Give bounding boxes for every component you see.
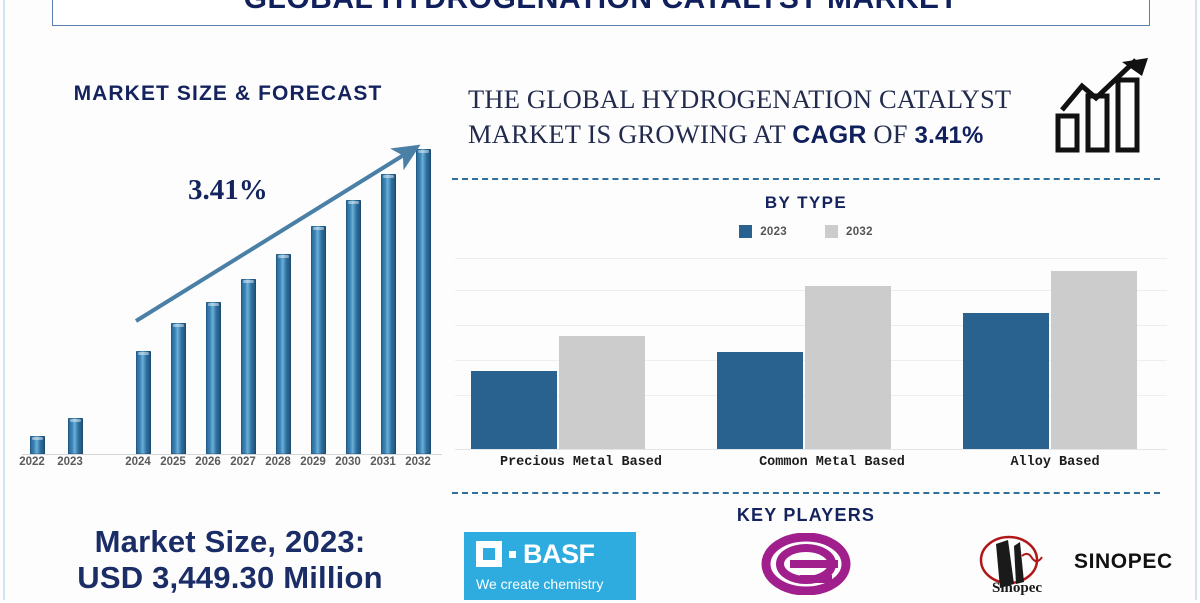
legend-label-2023: 2023 bbox=[760, 226, 787, 238]
basf-mark: BASF bbox=[476, 541, 595, 567]
bar-precious-metal-based-2032 bbox=[559, 336, 645, 449]
basf-tagline: We create chemistry bbox=[476, 576, 603, 592]
logo-evonik bbox=[760, 533, 856, 595]
page-title-box: GLOBAL HYDROGENATION CATALYST MARKET bbox=[52, 0, 1150, 26]
bar-common-metal-based-2032 bbox=[805, 286, 891, 449]
market-size-forecast-heading: MARKET SIZE & FORECAST bbox=[18, 82, 438, 106]
legend-swatch-2023 bbox=[739, 225, 752, 238]
divider-bottom bbox=[452, 492, 1160, 494]
x-label-2030: 2030 bbox=[328, 456, 368, 468]
basf-wordmark: BASF bbox=[523, 541, 595, 567]
cagr-statement: THE GLOBAL HYDROGENATION CATALYST MARKET… bbox=[468, 82, 1028, 152]
sinopec-sub-wordmark: Sinopec bbox=[992, 580, 1042, 596]
market-size-line-2: USD 3,449.30 Million bbox=[10, 560, 450, 596]
x-label-2031: 2031 bbox=[363, 456, 403, 468]
sinopec-wordmark: SINOPEC bbox=[1074, 550, 1173, 574]
x-label-2022: 2022 bbox=[12, 456, 52, 468]
bar-chart-growth-icon bbox=[1052, 58, 1156, 154]
x-label-2026: 2026 bbox=[188, 456, 228, 468]
legend-item-2032: 2032 bbox=[825, 225, 873, 238]
x-label-2023: 2023 bbox=[50, 456, 90, 468]
divider-top bbox=[452, 178, 1160, 180]
x-label-2027: 2027 bbox=[223, 456, 263, 468]
x-label-2024: 2024 bbox=[118, 456, 158, 468]
legend-label-2032: 2032 bbox=[846, 226, 873, 238]
chart-baseline bbox=[455, 449, 1167, 450]
bar-precious-metal-based-2023 bbox=[471, 371, 557, 449]
page-title: GLOBAL HYDROGENATION CATALYST MARKET bbox=[244, 0, 959, 16]
x-label-precious-metal-based: Precious Metal Based bbox=[456, 455, 706, 470]
x-label-2028: 2028 bbox=[258, 456, 298, 468]
by-type-chart bbox=[455, 255, 1167, 450]
cagr-statement-bold: CAGR bbox=[792, 121, 866, 149]
cagr-statement-value: 3.41% bbox=[915, 122, 984, 149]
bar-alloy-based-2023 bbox=[963, 313, 1049, 449]
key-players-heading: KEY PLAYERS bbox=[452, 505, 1160, 526]
basf-square-icon bbox=[476, 541, 502, 567]
legend-item-2023: 2023 bbox=[739, 225, 787, 238]
x-label-2025: 2025 bbox=[153, 456, 193, 468]
gridline bbox=[455, 258, 1167, 259]
infographic-page: GLOBAL HYDROGENATION CATALYST MARKET MAR… bbox=[0, 0, 1200, 600]
market-size-line-1: Market Size, 2023: bbox=[10, 524, 450, 560]
basf-dot-icon bbox=[509, 551, 516, 558]
by-type-heading: BY TYPE bbox=[452, 193, 1160, 213]
x-label-2032: 2032 bbox=[398, 456, 438, 468]
cagr-statement-part2: OF bbox=[867, 119, 915, 149]
by-type-legend: 2023 2032 bbox=[452, 225, 1160, 238]
x-label-2029: 2029 bbox=[293, 456, 333, 468]
bar-common-metal-based-2023 bbox=[717, 352, 803, 449]
bar-alloy-based-2032 bbox=[1051, 271, 1137, 449]
logo-basf: BASF We create chemistry bbox=[464, 532, 636, 600]
market-size-callout: Market Size, 2023: USD 3,449.30 Million bbox=[10, 524, 450, 596]
growth-arrow-icon bbox=[14, 135, 444, 455]
x-label-common-metal-based: Common Metal Based bbox=[707, 455, 957, 470]
sinopec-mark-icon: Sinopec bbox=[962, 532, 1066, 598]
logo-sinopec: Sinopec SINOPEC bbox=[962, 532, 1162, 598]
x-label-alloy-based: Alloy Based bbox=[960, 455, 1150, 470]
legend-swatch-2032 bbox=[825, 225, 838, 238]
